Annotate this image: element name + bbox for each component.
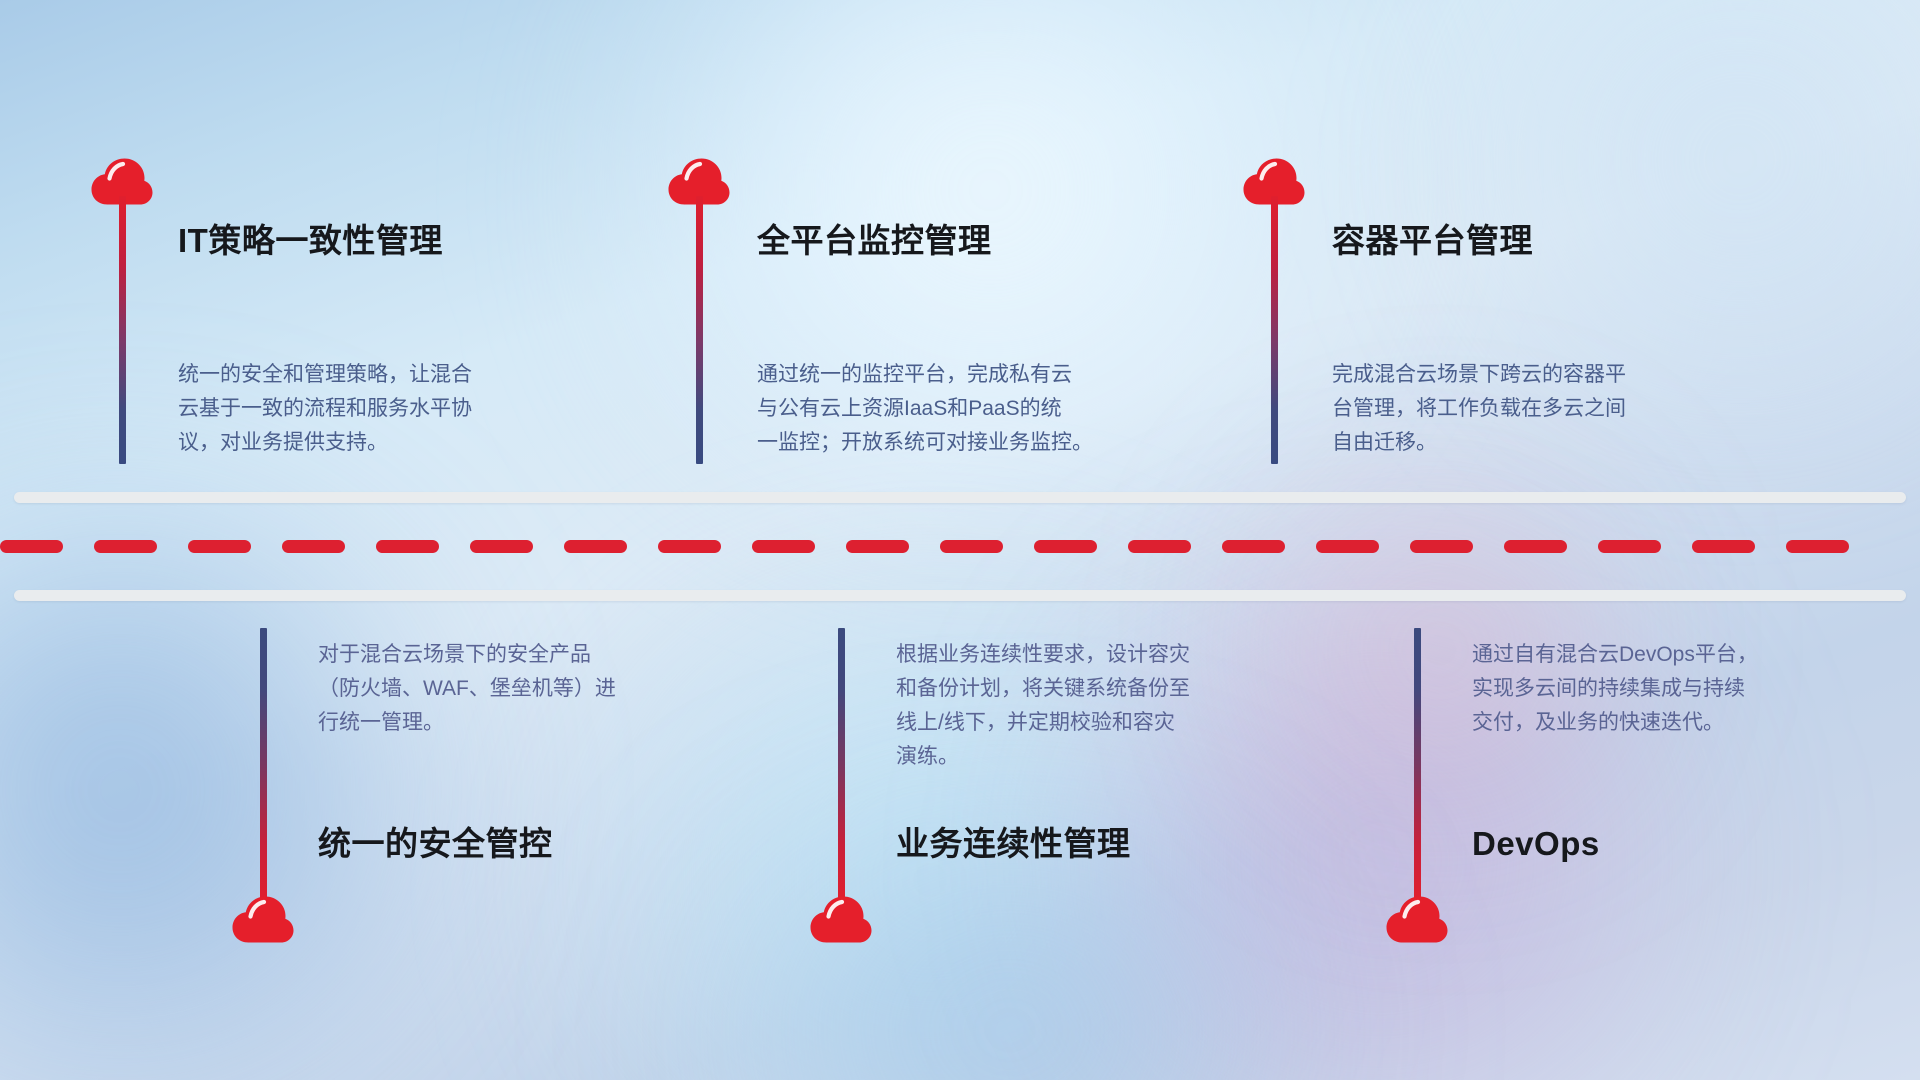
desc-line: 统一的安全和管理策略，让混合: [178, 358, 608, 392]
road-dash: [1316, 540, 1379, 553]
road-dash: [94, 540, 157, 553]
desc-line: 一监控；开放系统可对接业务监控。: [757, 426, 1187, 460]
road-dash: [282, 540, 345, 553]
pin-stem: [119, 196, 126, 464]
item-title: 全平台监控管理: [757, 224, 992, 257]
item-description: 统一的安全和管理策略，让混合 云基于一致的流程和服务水平协 议，对业务提供支持。: [178, 358, 608, 460]
pin-stem: [260, 628, 267, 904]
cloud-icon: [232, 896, 294, 943]
road-dashed-centerline: [0, 540, 1920, 553]
desc-line: 议，对业务提供支持。: [178, 426, 608, 460]
desc-line: 和备份计划，将关键系统备份至: [896, 672, 1326, 706]
road-dash: [658, 540, 721, 553]
item-title: IT策略一致性管理: [178, 224, 443, 257]
desc-line: 云基于一致的流程和服务水平协: [178, 392, 608, 426]
pin-stem: [696, 196, 703, 464]
desc-line: 线上/线下，并定期校验和容灾: [896, 706, 1326, 740]
cloud-icon: [1386, 896, 1448, 943]
infographic-canvas: IT策略一致性管理 统一的安全和管理策略，让混合 云基于一致的流程和服务水平协 …: [0, 0, 1920, 1080]
desc-line: （防火墙、WAF、堡垒机等）进: [318, 672, 748, 706]
road-line-upper: [14, 492, 1906, 503]
item-description: 完成混合云场景下跨云的容器平 台管理，将工作负载在多云之间 自由迁移。: [1332, 358, 1762, 460]
item-title: 统一的安全管控: [318, 827, 553, 860]
pin-stem: [1271, 196, 1278, 464]
desc-line: 交付，及业务的快速迭代。: [1472, 706, 1902, 740]
road-dash: [1410, 540, 1473, 553]
road-dash: [1222, 540, 1285, 553]
desc-line: 行统一管理。: [318, 706, 748, 740]
item-title: 业务连续性管理: [896, 827, 1131, 860]
desc-line: 实现多云间的持续集成与持续: [1472, 672, 1902, 706]
desc-line: 对于混合云场景下的安全产品: [318, 638, 748, 672]
item-description: 通过自有混合云DevOps平台， 实现多云间的持续集成与持续 交付，及业务的快速…: [1472, 638, 1902, 740]
road-dash: [940, 540, 1003, 553]
road-dash: [846, 540, 909, 553]
item-title: DevOps: [1472, 827, 1600, 860]
road-dash: [188, 540, 251, 553]
desc-line: 演练。: [896, 740, 1326, 774]
desc-line: 通过自有混合云DevOps平台，: [1472, 638, 1902, 672]
item-description: 通过统一的监控平台，完成私有云 与公有云上资源IaaS和PaaS的统 一监控；开…: [757, 358, 1187, 460]
road-dash: [1504, 540, 1567, 553]
road-dash: [564, 540, 627, 553]
item-description: 根据业务连续性要求，设计容灾 和备份计划，将关键系统备份至 线上/线下，并定期校…: [896, 638, 1326, 774]
road-dash: [1692, 540, 1755, 553]
road-dash: [0, 540, 63, 553]
road-dash: [1128, 540, 1191, 553]
road-dash: [1786, 540, 1849, 553]
desc-line: 根据业务连续性要求，设计容灾: [896, 638, 1326, 672]
road-dash: [470, 540, 533, 553]
desc-line: 通过统一的监控平台，完成私有云: [757, 358, 1187, 392]
road-dash: [376, 540, 439, 553]
desc-line: 台管理，将工作负载在多云之间: [1332, 392, 1762, 426]
road-dash: [752, 540, 815, 553]
pin-stem: [838, 628, 845, 904]
road-dash: [1034, 540, 1097, 553]
desc-line: 与公有云上资源IaaS和PaaS的统: [757, 392, 1187, 426]
pin-stem: [1414, 628, 1421, 904]
cloud-icon: [810, 896, 872, 943]
item-title: 容器平台管理: [1332, 224, 1533, 257]
road-dash: [1598, 540, 1661, 553]
desc-line: 自由迁移。: [1332, 426, 1762, 460]
item-description: 对于混合云场景下的安全产品 （防火墙、WAF、堡垒机等）进 行统一管理。: [318, 638, 748, 740]
desc-line: 完成混合云场景下跨云的容器平: [1332, 358, 1762, 392]
road-line-lower: [14, 590, 1906, 601]
